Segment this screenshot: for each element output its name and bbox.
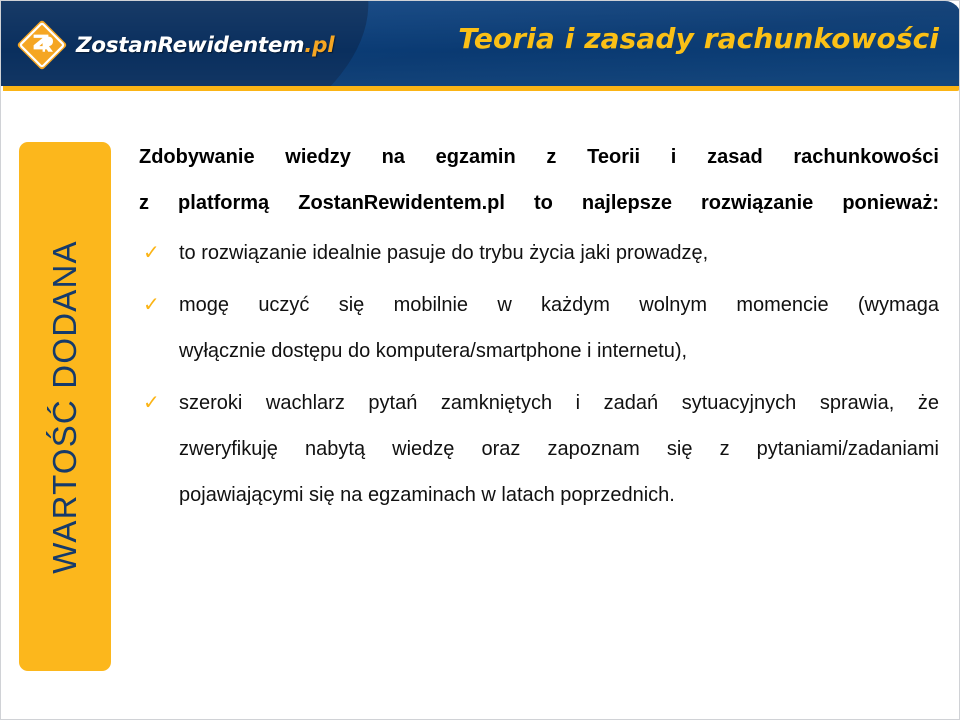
sidebar-label: WARTOŚĆ DODANA xyxy=(46,240,84,573)
brand-name: ZostanRewidentem xyxy=(76,33,304,58)
list-item-line: zweryfikuję nabytą wiedzę oraz zapoznam … xyxy=(179,426,939,472)
intro-line-1: Zdobywanie wiedzy na egzamin z Teorii i … xyxy=(139,134,939,180)
list-item-line: mogę uczyć się mobilnie w każdym wolnym … xyxy=(179,282,939,328)
check-icon: ✓ xyxy=(143,282,160,328)
header-accent-rule xyxy=(3,86,960,91)
check-icon: ✓ xyxy=(143,230,160,276)
list-item-line: pojawiającymi się na egzaminach w latach… xyxy=(179,472,939,518)
slide-header: ZostanRewidentem.pl Teoria i zasady rach… xyxy=(1,1,960,86)
slide-canvas: ZostanRewidentem.pl Teoria i zasady rach… xyxy=(0,0,960,720)
list-item-line: szeroki wachlarz pytań zamkniętych i zad… xyxy=(179,380,939,426)
list-item-line: to rozwiązanie idealnie pasuje do trybu … xyxy=(179,230,939,276)
page-title: Teoria i zasady rachunkowości xyxy=(458,22,939,55)
sidebar-value-added-banner: WARTOŚĆ DODANA xyxy=(19,142,111,671)
list-item-line: wyłącznie dostępu do komputera/smartphon… xyxy=(179,328,939,374)
content-area: Zdobywanie wiedzy na egzamin z Teorii i … xyxy=(139,134,945,524)
brand-tld: .pl xyxy=(304,33,334,58)
check-icon: ✓ xyxy=(143,380,160,426)
list-item: ✓ to rozwiązanie idealnie pasuje do tryb… xyxy=(139,230,939,276)
brand-logo[interactable]: ZostanRewidentem.pl xyxy=(17,19,334,71)
intro-paragraph: Zdobywanie wiedzy na egzamin z Teorii i … xyxy=(139,134,939,226)
zr-diamond-logo-icon xyxy=(17,20,67,70)
brand-wordmark: ZostanRewidentem.pl xyxy=(76,33,334,58)
benefits-list: ✓ to rozwiązanie idealnie pasuje do tryb… xyxy=(139,230,945,518)
list-item: ✓ szeroki wachlarz pytań zamkniętych i z… xyxy=(139,380,939,518)
intro-line-2: z platformą ZostanRewidentem.pl to najle… xyxy=(139,180,939,226)
list-item: ✓ mogę uczyć się mobilnie w każdym wolny… xyxy=(139,282,939,374)
